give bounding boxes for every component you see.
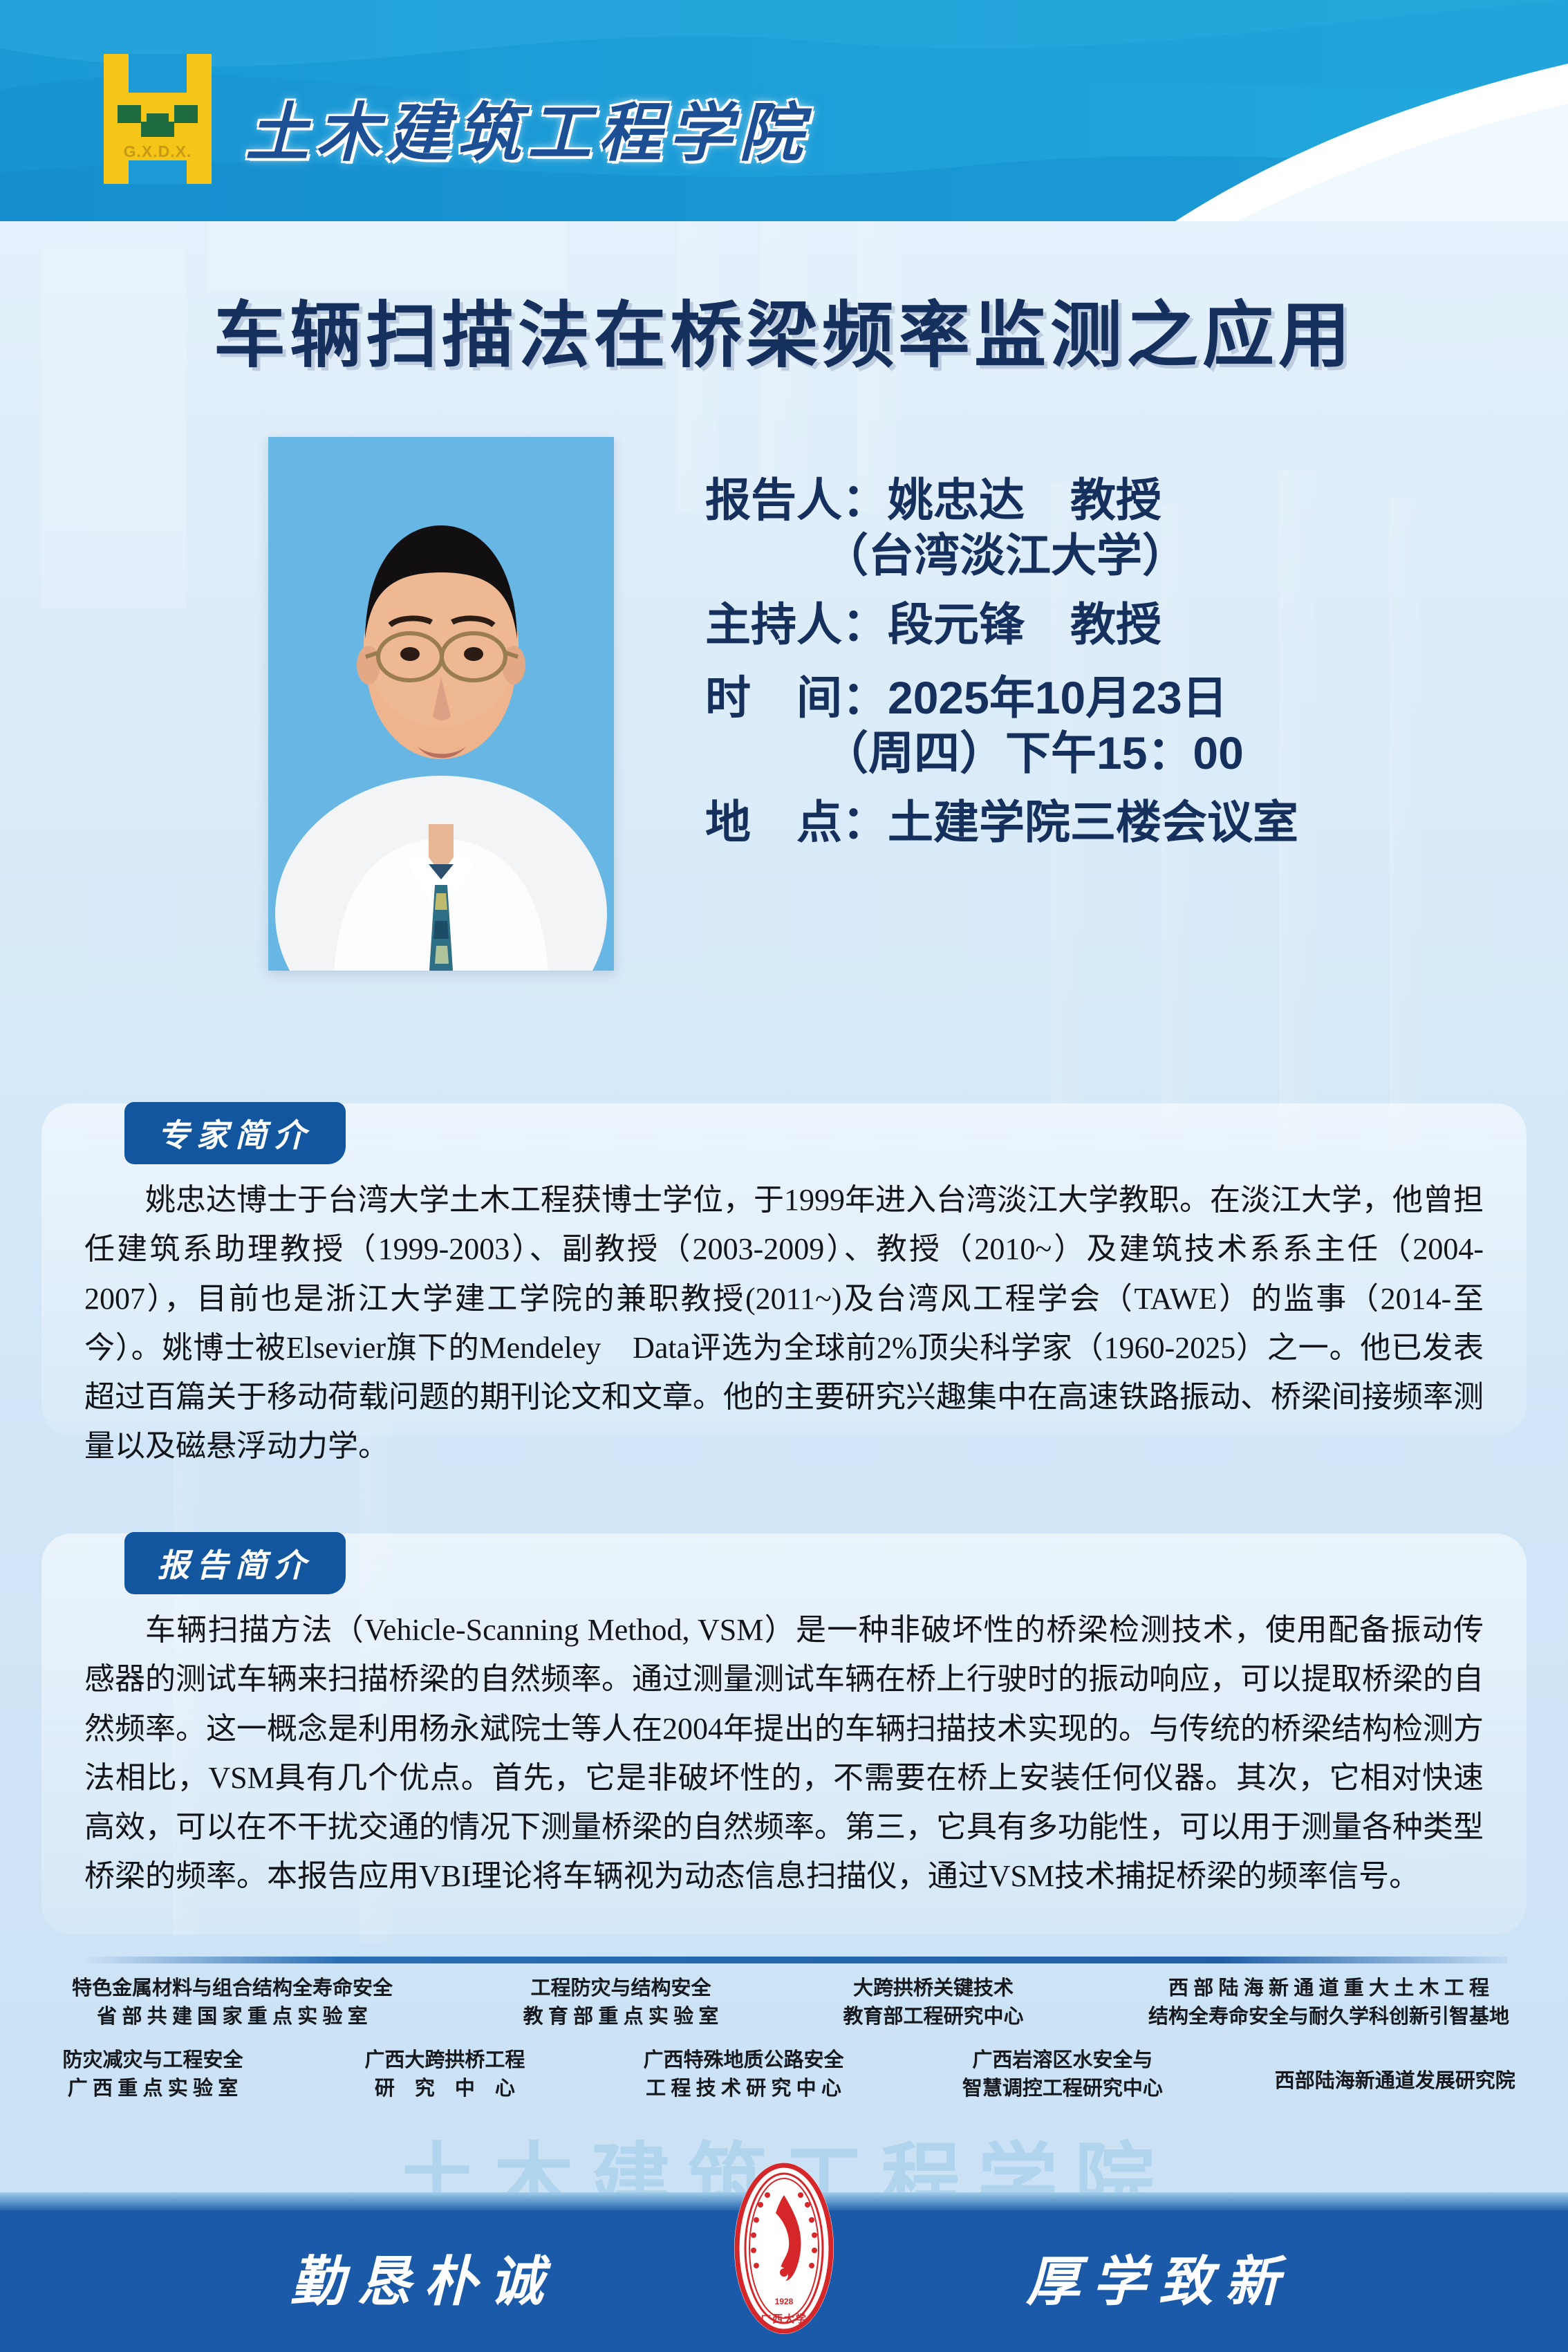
lab-item: 西部陆海新通道发展研究院 xyxy=(1222,2046,1568,2096)
info-speaker-affiliation: （台湾淡江大学） xyxy=(705,532,1556,578)
slogan-right: 厚学致新 xyxy=(1026,2239,1291,2316)
portrait-image xyxy=(268,437,614,971)
page-header: G.X.D.X. 土木建筑工程学院 xyxy=(0,0,1568,221)
svg-text:G.X.D.X.: G.X.D.X. xyxy=(124,142,192,160)
school-name: 土木建筑工程学院 xyxy=(245,82,810,174)
speaker-photo xyxy=(268,437,614,971)
university-logo-icon: G.X.D.X. xyxy=(88,50,227,188)
info-host: 主持人：段元锋 教授 xyxy=(705,601,1556,647)
labs-row-1: 特色金属材料与组合结构全寿命安全 省 部 共 建 国 家 重 点 实 验 室 工… xyxy=(0,1975,1568,2031)
svg-text:1928: 1928 xyxy=(775,2297,794,2306)
lab-item: 广西特殊地质公路安全 工 程 技 术 研 究 中 心 xyxy=(584,2046,903,2103)
lab-item: 大跨拱桥关键技术 教育部工程研究中心 xyxy=(777,1975,1090,2031)
slogan-left: 勤恳朴诚 xyxy=(290,2239,556,2316)
university-seal-icon: 1928 广西大学 xyxy=(733,2162,835,2335)
info-venue: 地 点：土建学院三楼会议室 xyxy=(705,799,1556,845)
svg-text:广西大学: 广西大学 xyxy=(760,2313,808,2325)
lab-item: 西 部 陆 海 新 通 道 重 大 土 木 工 程 结构全寿命安全与耐久学科创新… xyxy=(1090,1975,1568,2031)
footer-divider-top xyxy=(83,1957,1507,1963)
poster-title: 车辆扫描法在桥梁频率监测之应用 xyxy=(0,277,1568,381)
labs-row-2: 防灾减灾与工程安全 广 西 重 点 实 验 室 广西大跨拱桥工程 研 究 中 心… xyxy=(0,2046,1568,2103)
lab-item: 工程防灾与结构安全 教 育 部 重 点 实 验 室 xyxy=(465,1975,777,2031)
abstract-badge: 报告简介 xyxy=(124,1532,346,1594)
bio-badge: 专家简介 xyxy=(124,1102,346,1164)
lab-item: 防灾减灾与工程安全 广 西 重 点 实 验 室 xyxy=(0,2046,306,2103)
abstract-text: 车辆扫描方法（Vehicle-Scanning Method, VSM）是一种非… xyxy=(84,1605,1484,1901)
event-info: 报告人：姚忠达 教授 （台湾淡江大学） 主持人：段元锋 教授 时 间：2025年… xyxy=(705,477,1556,855)
info-time: 时 间：2025年10月23日 xyxy=(705,675,1556,720)
lab-item: 广西岩溶区水安全与 智慧调控工程研究中心 xyxy=(903,2046,1222,2103)
info-time-detail: （周四）下午15：00 xyxy=(705,730,1556,776)
bio-text: 姚忠达博士于台湾大学土木工程获博士学位，于1999年进入台湾淡江大学教职。在淡江… xyxy=(84,1175,1484,1471)
lab-item: 特色金属材料与组合结构全寿命安全 省 部 共 建 国 家 重 点 实 验 室 xyxy=(0,1975,465,2031)
info-speaker: 报告人：姚忠达 教授 xyxy=(705,477,1556,523)
poster-root: G.X.D.X. 土木建筑工程学院 车辆扫描法在桥梁频率监测之应用 xyxy=(0,0,1568,2352)
lab-item: 广西大跨拱桥工程 研 究 中 心 xyxy=(306,2046,584,2103)
